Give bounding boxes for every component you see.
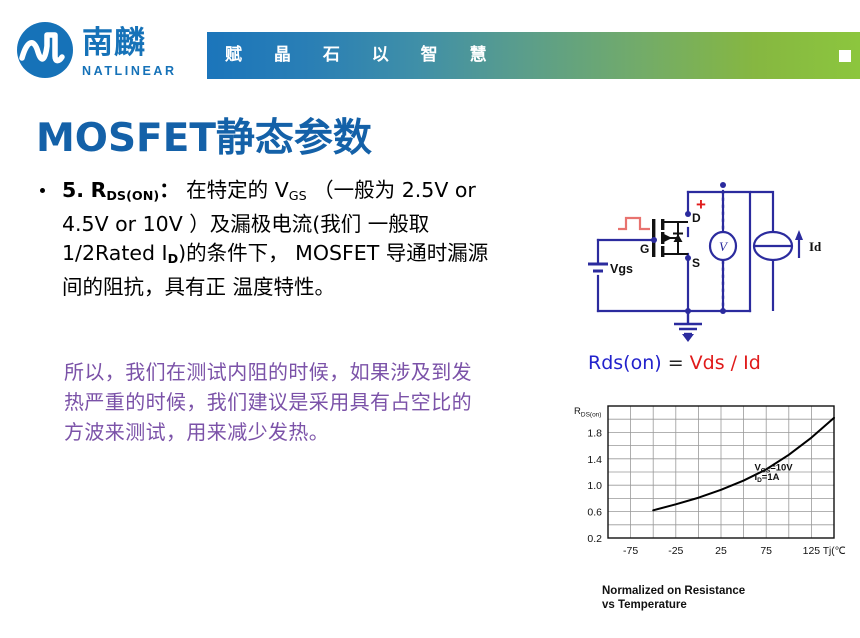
drain-node-dot xyxy=(685,211,691,217)
svg-text:Tj(℃): Tj(℃) xyxy=(823,546,846,557)
logo-english-name: NATLINEAR xyxy=(82,64,177,78)
label-source: S xyxy=(692,256,700,270)
ground-tip-icon xyxy=(682,334,694,342)
chart-caption: Normalized on Resistance vs Temperature xyxy=(602,584,842,612)
label-gate: G xyxy=(640,242,649,256)
svg-text:-75: -75 xyxy=(623,545,638,557)
label-plus: + xyxy=(696,195,706,214)
company-logo: 南麟 NATLINEAR xyxy=(14,22,194,80)
item-index: 5. xyxy=(62,178,84,202)
svg-text:125: 125 xyxy=(803,545,821,557)
body-line1-a: 在特定的 xyxy=(186,178,275,202)
banner-notch xyxy=(839,50,851,62)
banner-slogan: 赋 晶 石 以 智 慧 xyxy=(225,32,500,79)
circuit-svg: D S G + Vgs Id V xyxy=(560,172,860,342)
vgs-main: V xyxy=(275,178,289,202)
source-node-dot xyxy=(685,255,691,261)
node-dot-top xyxy=(720,182,726,188)
resistance-temperature-chart: 0.20.61.01.41.8-75-252575125Tj(℃)RDS(on)… xyxy=(566,398,846,630)
header-banner: 赋 晶 石 以 智 慧 xyxy=(207,32,860,79)
logo-chinese-text: 南麟 xyxy=(82,25,146,61)
body-text-block: 5. RDS(ON)： 在特定的 VGS （一般为 2.5V or 4.5V o… xyxy=(36,176,506,302)
svg-text:75: 75 xyxy=(760,545,772,557)
slide-header: 南麟 NATLINEAR 赋 晶 石 以 智 慧 xyxy=(0,0,860,96)
formula-equals: = xyxy=(668,352,684,374)
svg-text:1.4: 1.4 xyxy=(587,454,602,466)
rdson-formula: Rds(on) = Vds / Id xyxy=(588,352,761,374)
logo-chinese-name: 南麟 xyxy=(82,24,192,64)
svg-text:0.2: 0.2 xyxy=(587,533,602,545)
body-line5: 温度特性。 xyxy=(233,275,336,299)
formula-lhs: Rds(on) xyxy=(588,352,662,374)
term-main: R xyxy=(91,178,107,202)
body-paragraph: 5. RDS(ON)： 在特定的 VGS （一般为 2.5V or 4.5V o… xyxy=(36,176,506,302)
svg-text:0.6: 0.6 xyxy=(587,507,602,519)
term-subscript: DS(ON) xyxy=(106,188,159,203)
mosfet-symbol-icon xyxy=(652,219,688,257)
label-vgs: Vgs xyxy=(610,262,633,276)
gate-node-dot xyxy=(651,237,657,243)
chart-caption-line2: vs Temperature xyxy=(602,598,842,612)
ground-icon xyxy=(674,311,702,334)
body-line1-b: （一般为 xyxy=(307,178,396,202)
note-paragraph: 所以，我们在测试内阻的时候，如果涉及到发热严重的时候，我们建议是采用具有占空比的… xyxy=(64,357,484,447)
vgs-subscript: GS xyxy=(289,188,307,203)
current-source-icon xyxy=(750,192,792,311)
chart-caption-line1: Normalized on Resistance xyxy=(602,584,842,598)
term-rdson: RDS(ON) xyxy=(91,178,160,202)
id-arrow-icon xyxy=(795,230,803,258)
battery-icon xyxy=(588,264,608,271)
vgs-symbol: VGS xyxy=(275,178,307,202)
circuit-diagram: D S G + Vgs Id V xyxy=(560,172,860,342)
chart-svg: 0.20.61.01.41.8-75-252575125Tj(℃)RDS(on)… xyxy=(566,398,846,578)
label-id: Id xyxy=(809,239,822,254)
id-subscript: D xyxy=(168,251,179,266)
slide-root: 南麟 NATLINEAR 赋 晶 石 以 智 慧 MOSFET静态参数 5. R… xyxy=(0,0,860,638)
body-line3-b: )的条件下， xyxy=(178,241,289,265)
svg-text:1.8: 1.8 xyxy=(587,427,602,439)
term-colon: ： xyxy=(159,178,180,202)
square-pulse-icon xyxy=(618,218,650,229)
natlinear-wave-logo-icon xyxy=(14,22,76,78)
svg-text:25: 25 xyxy=(715,545,727,557)
formula-rhs: Vds / Id xyxy=(690,352,761,374)
page-title: MOSFET静态参数 xyxy=(36,107,372,163)
svg-text:RDS(on): RDS(on) xyxy=(574,406,601,419)
bullet-icon xyxy=(40,188,45,193)
svg-text:1.0: 1.0 xyxy=(587,480,602,492)
node-dot-bottom xyxy=(720,308,726,314)
body-arrow-icon xyxy=(664,234,672,242)
svg-text:-25: -25 xyxy=(668,545,683,557)
